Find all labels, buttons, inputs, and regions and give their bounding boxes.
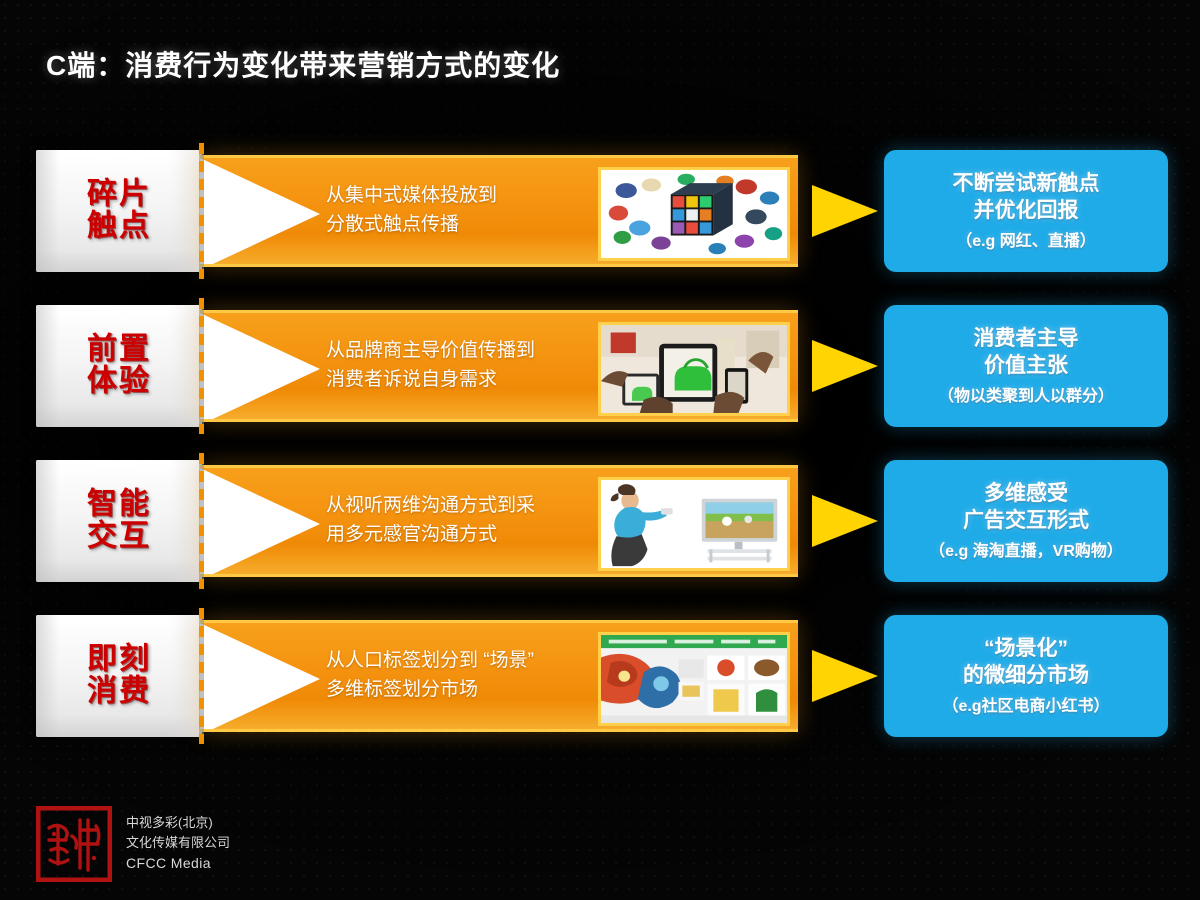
content-row: 碎片 触点 从集中式媒体投放到 分散式触点传播 <box>0 147 1200 275</box>
motion-gaming-tv-photo <box>598 477 790 571</box>
result-main: 多维感受 广告交互形式 <box>963 481 1089 534</box>
stage-tab-label-line1: 碎片 <box>87 178 151 211</box>
bar-arrow-icon <box>200 158 320 267</box>
bar-arrow-icon <box>200 623 320 732</box>
description-bar[interactable]: 从集中式媒体投放到 分散式触点传播 <box>200 155 798 267</box>
perforation-divider <box>199 608 204 744</box>
stage-tab-label: 即刻 消费 <box>36 644 202 709</box>
description-text: 从人口标签划分到 “场景” 多维标签划分市场 <box>326 647 534 705</box>
connector-arrow-icon <box>812 185 878 237</box>
ecommerce-site-grid-photo <box>598 632 790 726</box>
stage-tab-label-line2: 触点 <box>36 211 202 243</box>
content-row: 即刻 消费 从人口标签划分到 “场景” 多维标签划分市场 <box>0 612 1200 740</box>
result-line2: 并优化回报 <box>974 199 1079 222</box>
description-line1: 从品牌商主导价值传播到 <box>326 340 535 361</box>
description-line2: 多维标签划分市场 <box>326 676 534 705</box>
description-bar[interactable]: 从视听两维沟通方式到采 用多元感官沟通方式 <box>200 465 798 577</box>
stage-tab-card[interactable]: 碎片 触点 <box>36 150 202 272</box>
description-bar[interactable]: 从人口标签划分到 “场景” 多维标签划分市场 <box>200 620 798 732</box>
description-bar[interactable]: 从品牌商主导价值传播到 消费者诉说自身需求 <box>200 310 798 422</box>
slide-canvas: C端：消费行为变化带来营销方式的变化 碎片 触点 从集中式媒体投放到 分散式触点… <box>0 0 1200 900</box>
description-line1: 从视听两维沟通方式到采 <box>326 495 535 516</box>
bar-arrow-icon <box>200 468 320 577</box>
result-line1: “场景化” <box>984 637 1068 660</box>
stage-tab-label: 智能 交互 <box>36 489 202 554</box>
result-main: “场景化” 的微细分市场 <box>963 636 1089 689</box>
connector-arrow-icon <box>812 495 878 547</box>
stage-tab-card[interactable]: 即刻 消费 <box>36 615 202 737</box>
perforation-divider <box>199 453 204 589</box>
bar-arrow-icon <box>200 313 320 422</box>
content-row: 智能 交互 从视听两维沟通方式到采 用多元感官沟通方式 <box>0 457 1200 585</box>
result-line1: 不断尝试新触点 <box>953 172 1100 195</box>
stage-tab-label: 碎片 触点 <box>36 179 202 244</box>
stage-tab-label-line2: 交互 <box>36 521 202 553</box>
description-text: 从视听两维沟通方式到采 用多元感官沟通方式 <box>326 492 535 550</box>
description-text: 从品牌商主导价值传播到 消费者诉说自身需求 <box>326 337 535 395</box>
rubiks-cube-social-icons-photo <box>598 167 790 261</box>
result-box[interactable]: “场景化” 的微细分市场 （e.g社区电商小红书） <box>884 615 1168 737</box>
result-note: （e.g 网红、直播） <box>956 227 1096 251</box>
stage-tab-label-line1: 即刻 <box>87 643 151 676</box>
description-line1: 从人口标签划分到 “场景” <box>326 650 534 671</box>
company-line3: CFCC Media <box>126 853 230 875</box>
stage-tab-label-line2: 体验 <box>36 366 202 398</box>
ar-tablet-shopping-photo <box>598 322 790 416</box>
result-note: （e.g社区电商小红书） <box>942 692 1109 716</box>
result-main: 不断尝试新触点 并优化回报 <box>953 171 1100 224</box>
perforation-divider <box>199 298 204 434</box>
result-box[interactable]: 多维感受 广告交互形式 （e.g 海淘直播，VR购物） <box>884 460 1168 582</box>
description-line1: 从集中式媒体投放到 <box>326 185 497 206</box>
stage-tab-card[interactable]: 智能 交互 <box>36 460 202 582</box>
result-line1: 多维感受 <box>984 482 1068 505</box>
result-line2: 广告交互形式 <box>963 509 1089 532</box>
perforation-divider <box>199 143 204 279</box>
footer: 中视多彩(北京) 文化传媒有限公司 CFCC Media <box>36 806 230 882</box>
stage-tab-label-line1: 前置 <box>87 333 151 366</box>
stage-tab-card[interactable]: 前置 体验 <box>36 305 202 427</box>
result-note: （e.g 海淘直播，VR购物） <box>929 537 1123 561</box>
cfcc-seal-logo <box>36 806 112 882</box>
content-row: 前置 体验 从品牌商主导价值传播到 消费者诉说自身需求 <box>0 302 1200 430</box>
result-line2: 价值主张 <box>984 354 1068 377</box>
description-text: 从集中式媒体投放到 分散式触点传播 <box>326 182 497 240</box>
result-main: 消费者主导 价值主张 <box>974 326 1079 379</box>
description-line2: 消费者诉说自身需求 <box>326 366 535 395</box>
result-line1: 消费者主导 <box>974 327 1079 350</box>
result-box[interactable]: 消费者主导 价值主张 （物以类聚到人以群分） <box>884 305 1168 427</box>
company-line2: 文化传媒有限公司 <box>126 833 230 853</box>
stage-tab-label-line2: 消费 <box>36 676 202 708</box>
result-note: （物以类聚到人以群分） <box>938 382 1114 406</box>
description-line2: 分散式触点传播 <box>326 211 497 240</box>
footer-company-text: 中视多彩(北京) 文化传媒有限公司 CFCC Media <box>126 813 230 875</box>
connector-arrow-icon <box>812 650 878 702</box>
result-line2: 的微细分市场 <box>963 664 1089 687</box>
description-line2: 用多元感官沟通方式 <box>326 521 535 550</box>
stage-tab-label: 前置 体验 <box>36 334 202 399</box>
company-line1: 中视多彩(北京) <box>126 813 230 833</box>
connector-arrow-icon <box>812 340 878 392</box>
title-bar: C端：消费行为变化带来营销方式的变化 <box>46 44 560 84</box>
result-box[interactable]: 不断尝试新触点 并优化回报 （e.g 网红、直播） <box>884 150 1168 272</box>
stage-tab-label-line1: 智能 <box>87 488 151 521</box>
background-vignette <box>0 0 1200 900</box>
page-title: C端：消费行为变化带来营销方式的变化 <box>46 44 560 84</box>
